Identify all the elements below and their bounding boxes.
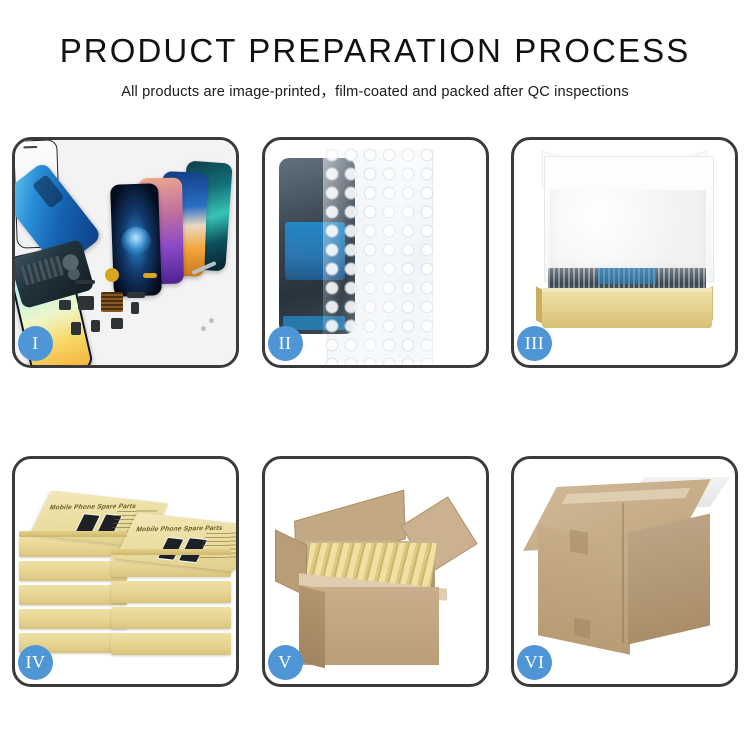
part-small-bracket (131, 302, 139, 314)
plastic-sheen (323, 146, 435, 365)
step-panel-4: Mobile Phone Spare Parts Mobile Phone Sp… (12, 456, 239, 687)
process-steps-grid: I II (12, 137, 738, 687)
page-title: PRODUCT PREPARATION PROCESS (0, 34, 750, 69)
page-subtitle: All products are image-printed，film-coat… (0, 80, 750, 101)
box-front-panel (542, 292, 712, 328)
part-screw-1 (201, 326, 206, 331)
step-panel-2: II (262, 137, 489, 368)
part-sensor (91, 320, 100, 332)
part-button-flex (59, 300, 71, 310)
part-gold-flex (143, 273, 157, 278)
carton-tab-upper (570, 529, 588, 555)
part-ribbon-cable (127, 292, 145, 298)
phone-screen-jellyfish (110, 183, 162, 297)
carton-corner-seam (622, 503, 624, 643)
step-panel-1: I (12, 137, 239, 368)
step-badge-4: IV (18, 645, 53, 680)
part-camera-module (78, 296, 94, 310)
page-header: PRODUCT PREPARATION PROCESS All products… (0, 0, 750, 101)
part-vibration-motor (105, 268, 119, 282)
step-badge-6: VI (517, 645, 552, 680)
step-badge-1: I (18, 326, 53, 361)
step-panel-5: V (262, 456, 489, 687)
foam-lining (550, 190, 706, 274)
step-badge-5: V (268, 645, 303, 680)
part-speaker-mesh (101, 292, 123, 312)
part-connector-strip (75, 280, 95, 284)
part-sim-tray (71, 322, 81, 335)
carton-tab-lower (574, 617, 590, 638)
step-badge-3: III (517, 326, 552, 361)
part-screw-2 (209, 318, 214, 323)
product-preparation-page: PRODUCT PREPARATION PROCESS All products… (0, 0, 750, 750)
box-stack: Mobile Phone Spare Parts Mobile Phone Sp… (19, 483, 234, 673)
step-panel-3: III (511, 137, 738, 368)
packed-parts-blue-label (598, 268, 656, 284)
step-badge-2: II (268, 326, 303, 361)
part-earpiece (111, 318, 123, 329)
sealed-carton-side (628, 514, 710, 645)
carton-side-face (299, 586, 325, 668)
step-panel-6: VI (511, 456, 738, 687)
